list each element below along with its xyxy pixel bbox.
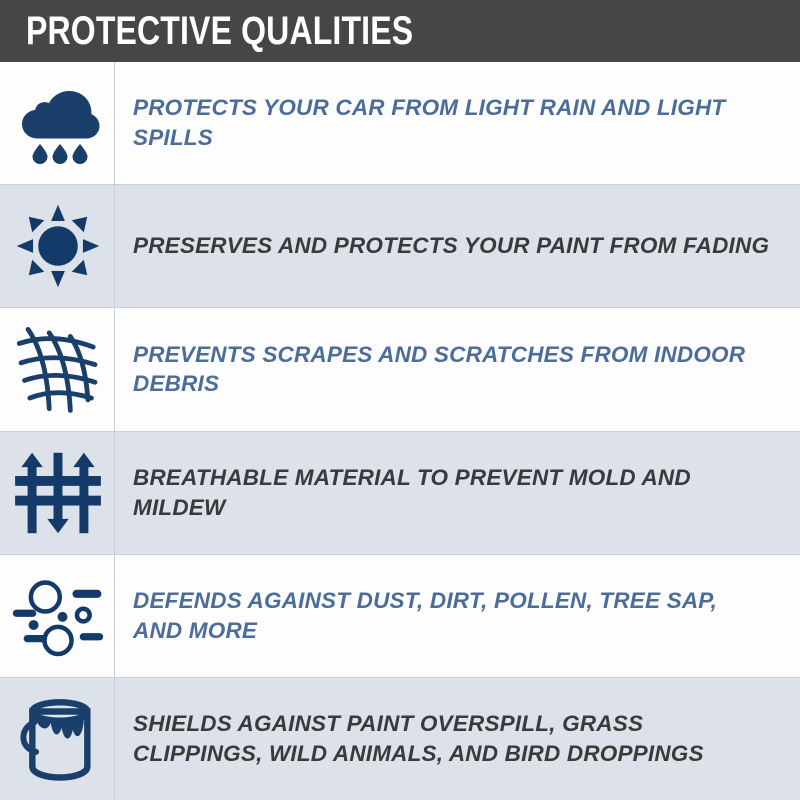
feature-text: BREATHABLE MATERIAL TO PREVENT MOLD AND …: [133, 463, 772, 523]
text-cell: PREVENTS SCRAPES AND SCRATCHES FROM INDO…: [115, 308, 800, 430]
scratch-mesh-icon: [14, 324, 102, 414]
icon-cell: [0, 308, 115, 430]
sun-icon: [15, 203, 101, 289]
icon-cell: [0, 678, 115, 800]
icon-cell: [0, 555, 115, 677]
breathable-arrows-icon: [13, 451, 103, 535]
rain-cloud-icon: [15, 82, 101, 164]
feature-row: PREVENTS SCRAPES AND SCRATCHES FROM INDO…: [0, 308, 800, 431]
feature-row: BREATHABLE MATERIAL TO PREVENT MOLD AND …: [0, 432, 800, 555]
feature-row: PRESERVES AND PROTECTS YOUR PAINT FROM F…: [0, 185, 800, 308]
feature-text: PREVENTS SCRAPES AND SCRATCHES FROM INDO…: [133, 340, 772, 400]
icon-cell: [0, 432, 115, 554]
page-title: PROTECTIVE QUALITIES: [26, 11, 413, 51]
header-bar: PROTECTIVE QUALITIES: [0, 0, 800, 62]
feature-row: SHIELDS AGAINST PAINT OVERSPILL, GRASS C…: [0, 678, 800, 800]
icon-cell: [0, 62, 115, 184]
icon-cell: [0, 185, 115, 307]
feature-row: DEFENDS AGAINST DUST, DIRT, POLLEN, TREE…: [0, 555, 800, 678]
protective-qualities-infographic: PROTECTIVE QUALITIES PROTECTS YOUR CAR F…: [0, 0, 800, 800]
feature-text: PROTECTS YOUR CAR FROM LIGHT RAIN AND LI…: [133, 93, 772, 153]
feature-row: PROTECTS YOUR CAR FROM LIGHT RAIN AND LI…: [0, 62, 800, 185]
feature-text: SHIELDS AGAINST PAINT OVERSPILL, GRASS C…: [133, 709, 772, 769]
text-cell: SHIELDS AGAINST PAINT OVERSPILL, GRASS C…: [115, 678, 800, 800]
text-cell: DEFENDS AGAINST DUST, DIRT, POLLEN, TREE…: [115, 555, 800, 677]
feature-text: DEFENDS AGAINST DUST, DIRT, POLLEN, TREE…: [133, 586, 772, 646]
text-cell: PRESERVES AND PROTECTS YOUR PAINT FROM F…: [115, 185, 800, 307]
dust-particles-icon: [11, 574, 105, 658]
text-cell: BREATHABLE MATERIAL TO PREVENT MOLD AND …: [115, 432, 800, 554]
text-cell: PROTECTS YOUR CAR FROM LIGHT RAIN AND LI…: [115, 62, 800, 184]
paint-can-icon: [14, 695, 102, 783]
feature-text: PRESERVES AND PROTECTS YOUR PAINT FROM F…: [133, 231, 769, 261]
feature-list: PROTECTS YOUR CAR FROM LIGHT RAIN AND LI…: [0, 62, 800, 800]
